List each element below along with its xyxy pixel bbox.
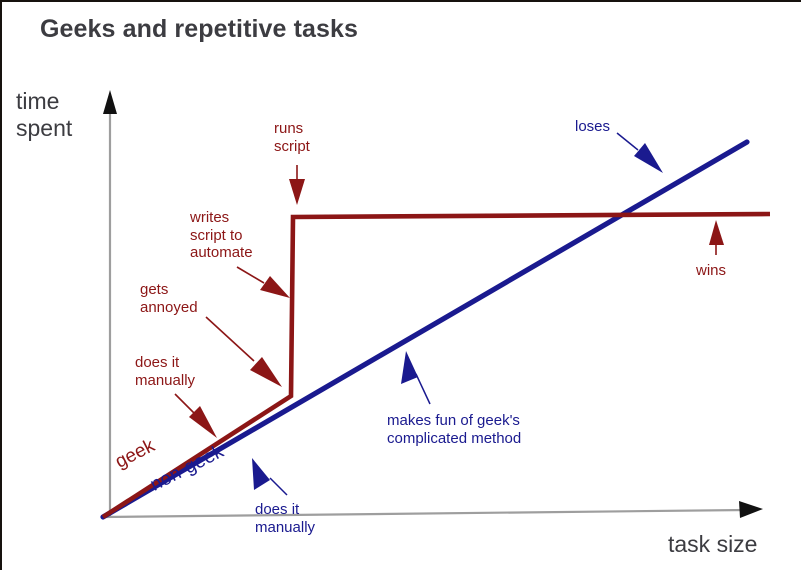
annotation-wins: wins — [696, 262, 726, 280]
annotation-arrow-does-it-manually-non-geek — [252, 458, 287, 495]
chart-graphics — [2, 2, 801, 570]
x-axis-arrowhead — [739, 501, 763, 518]
annotation-arrow-loses — [617, 133, 663, 173]
annotation-arrow-writes-script — [237, 267, 290, 298]
x-axis-label: task size — [668, 531, 757, 558]
annotation-writes-script-to-automate: writes script to automate — [190, 209, 253, 262]
annotation-makes-fun-of-geeks-complicated-method: makes fun of geek's complicated method — [387, 412, 521, 447]
annotation-does-it-manually-geek: does it manually — [135, 354, 195, 389]
chart-canvas: Geeks and repetitive tasks time spent ta… — [0, 0, 801, 570]
annotation-arrow-runs-script — [289, 165, 305, 205]
chart-title: Geeks and repetitive tasks — [40, 15, 358, 45]
annotation-arrow-does-it-manually-geek — [175, 394, 217, 438]
annotation-loses: loses — [575, 118, 610, 136]
annotation-arrow-gets-annoyed — [206, 317, 282, 387]
annotation-runs-script: runs script — [274, 120, 310, 155]
y-axis-label: time spent — [16, 88, 72, 142]
annotation-arrow-makes-fun — [401, 351, 430, 404]
y-axis-arrowhead — [103, 90, 117, 114]
annotation-gets-annoyed: gets annoyed — [140, 281, 198, 316]
x-axis-line — [103, 510, 746, 517]
annotation-arrow-wins — [709, 220, 724, 255]
annotation-does-it-manually-non-geek: does it manually — [255, 501, 315, 536]
